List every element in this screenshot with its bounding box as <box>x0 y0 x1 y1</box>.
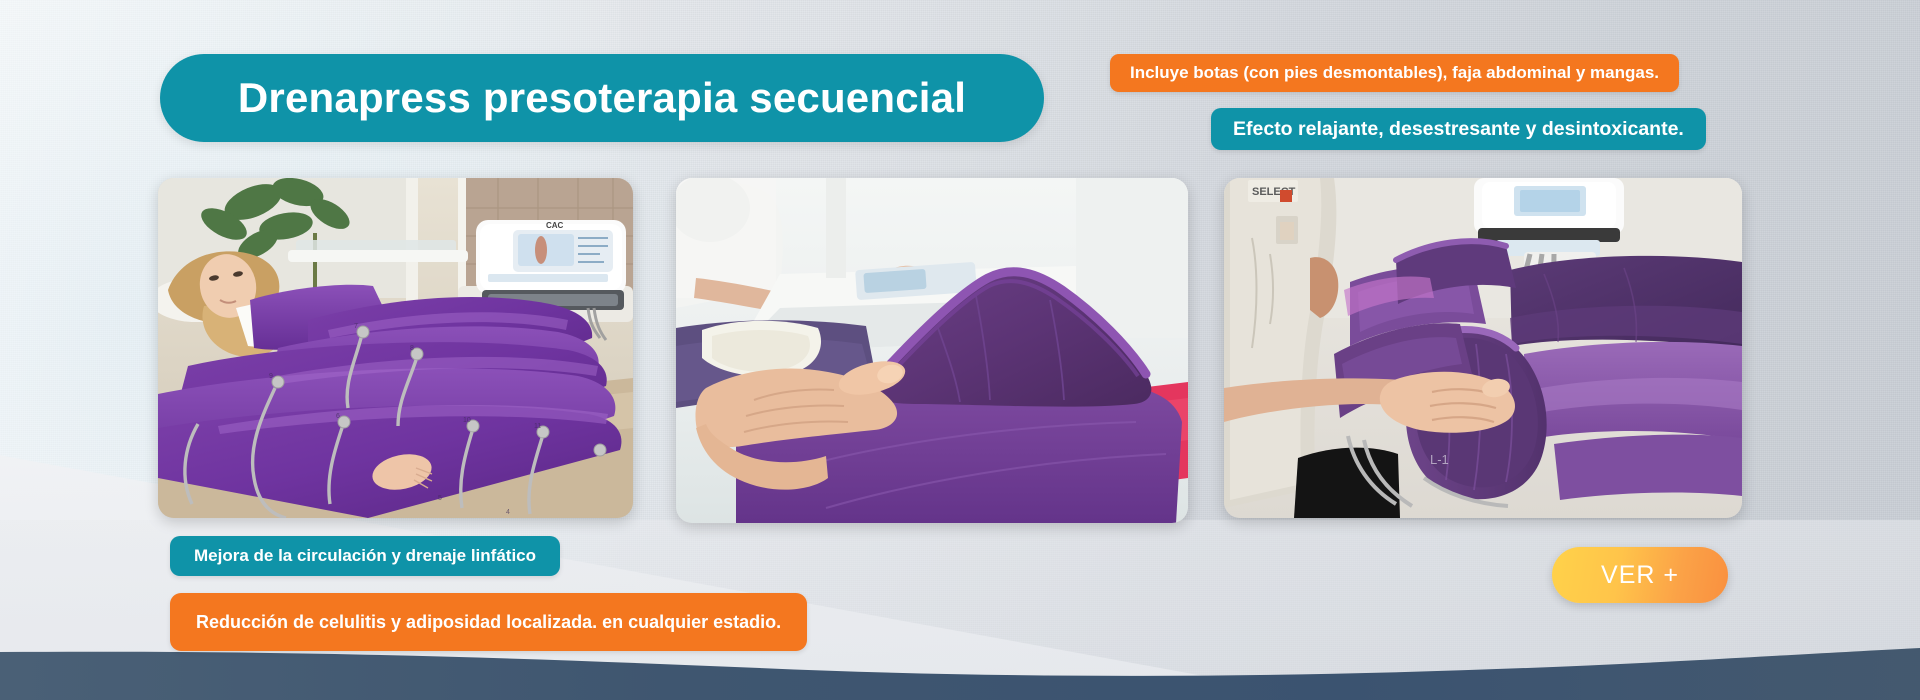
banner-stage: Drenapress presoterapia secuencial Inclu… <box>0 0 1920 700</box>
page-title: Drenapress presoterapia secuencial <box>238 74 966 122</box>
svg-text:11: 11 <box>534 423 541 430</box>
ver-mas-label: VER + <box>1601 561 1679 590</box>
badge-effect-label: Efecto relajante, desestresante y desint… <box>1233 118 1684 141</box>
badge-reduction-label: Reducción de celulitis y adiposidad loca… <box>196 612 781 633</box>
svg-text:L-1: L-1 <box>1430 452 1449 467</box>
photo-hand-lifting-fabric <box>676 178 1188 523</box>
banner-title-pill: Drenapress presoterapia secuencial <box>160 54 1044 142</box>
svg-text:8: 8 <box>410 345 414 352</box>
svg-text:10: 10 <box>463 417 471 424</box>
badge-effect: Efecto relajante, desestresante y desint… <box>1211 108 1706 150</box>
photo-3-artwork: SELECT <box>1224 178 1742 518</box>
badge-circulation: Mejora de la circulación y drenaje linfá… <box>170 536 560 576</box>
svg-text:6: 6 <box>336 413 340 420</box>
svg-text:CAC: CAC <box>546 221 564 230</box>
svg-text:4: 4 <box>506 509 510 516</box>
svg-text:5: 5 <box>438 495 442 502</box>
photo-woman-in-suit: CAC <box>158 178 633 518</box>
ver-mas-button[interactable]: VER + <box>1552 547 1728 603</box>
badge-includes: Incluye botas (con pies desmontables), f… <box>1110 54 1679 92</box>
badge-includes-label: Incluye botas (con pies desmontables), f… <box>1130 63 1659 83</box>
svg-text:9: 9 <box>269 373 273 380</box>
photo-2-artwork <box>676 178 1188 523</box>
photo-technician-adjusting-cuffs: SELECT <box>1224 178 1742 518</box>
photo-1-artwork: CAC <box>158 178 633 518</box>
badge-circulation-label: Mejora de la circulación y drenaje linfá… <box>194 546 536 566</box>
badge-reduction: Reducción de celulitis y adiposidad loca… <box>170 593 807 651</box>
svg-text:7: 7 <box>354 323 358 330</box>
